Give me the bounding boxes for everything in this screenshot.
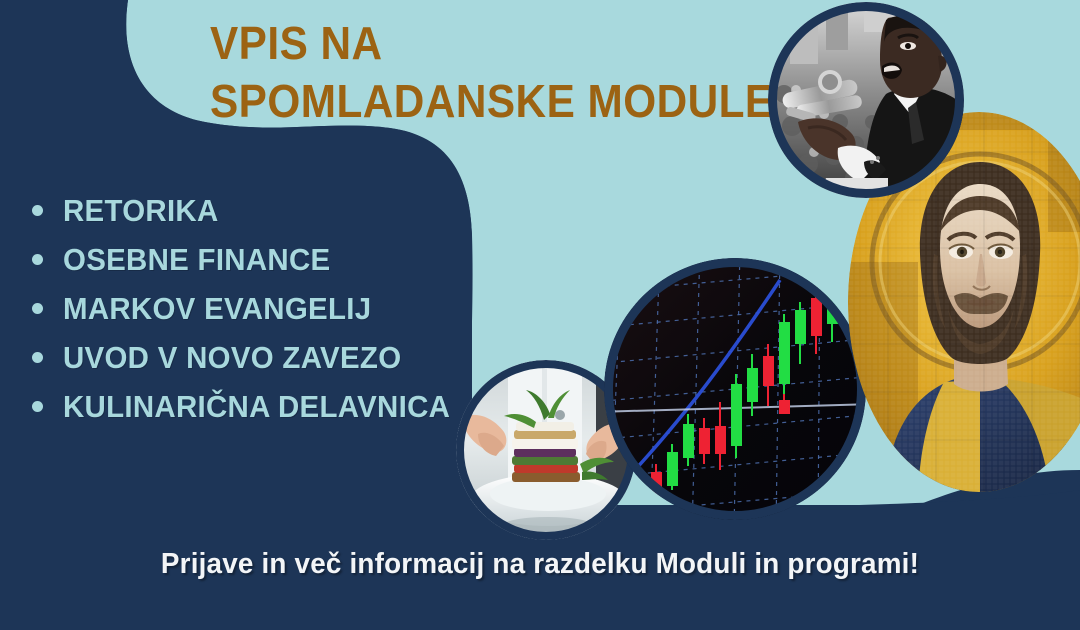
bullet-dot-icon [32, 205, 43, 216]
module-label: KULINARIČNA DELAVNICA [63, 389, 450, 425]
speaker-photo [768, 2, 964, 198]
module-label: OSEBNE FINANCE [63, 242, 330, 278]
candlestick-chart-photo [604, 258, 866, 520]
candlestick-chart-icon [604, 258, 866, 520]
bullet-dot-icon [32, 254, 43, 265]
speaker-photo-icon [768, 2, 964, 198]
poster-canvas: VPIS NA SPOMLADANSKE MODULE: RETORIKA OS… [0, 0, 1080, 630]
list-item: MARKOV EVANGELIJ [30, 284, 470, 333]
title-line-1: VPIS NA [210, 14, 688, 72]
list-item: RETORIKA [30, 186, 470, 235]
module-list: RETORIKA OSEBNE FINANCE MARKOV EVANGELIJ… [30, 186, 470, 431]
module-label: UVOD V NOVO ZAVEZO [63, 340, 401, 376]
footer-call-to-action: Prijave in več informacij na razdelku Mo… [22, 548, 1059, 581]
list-item: UVOD V NOVO ZAVEZO [30, 333, 470, 382]
module-label: MARKOV EVANGELIJ [63, 291, 371, 327]
list-item: OSEBNE FINANCE [30, 235, 470, 284]
module-label: RETORIKA [63, 193, 219, 229]
page-title: VPIS NA SPOMLADANSKE MODULE: [210, 14, 730, 130]
list-item: KULINARIČNA DELAVNICA [30, 382, 470, 431]
bullet-dot-icon [32, 352, 43, 363]
bullet-dot-icon [32, 401, 43, 412]
bullet-dot-icon [32, 303, 43, 314]
title-line-2: SPOMLADANSKE MODULE: [210, 72, 688, 130]
